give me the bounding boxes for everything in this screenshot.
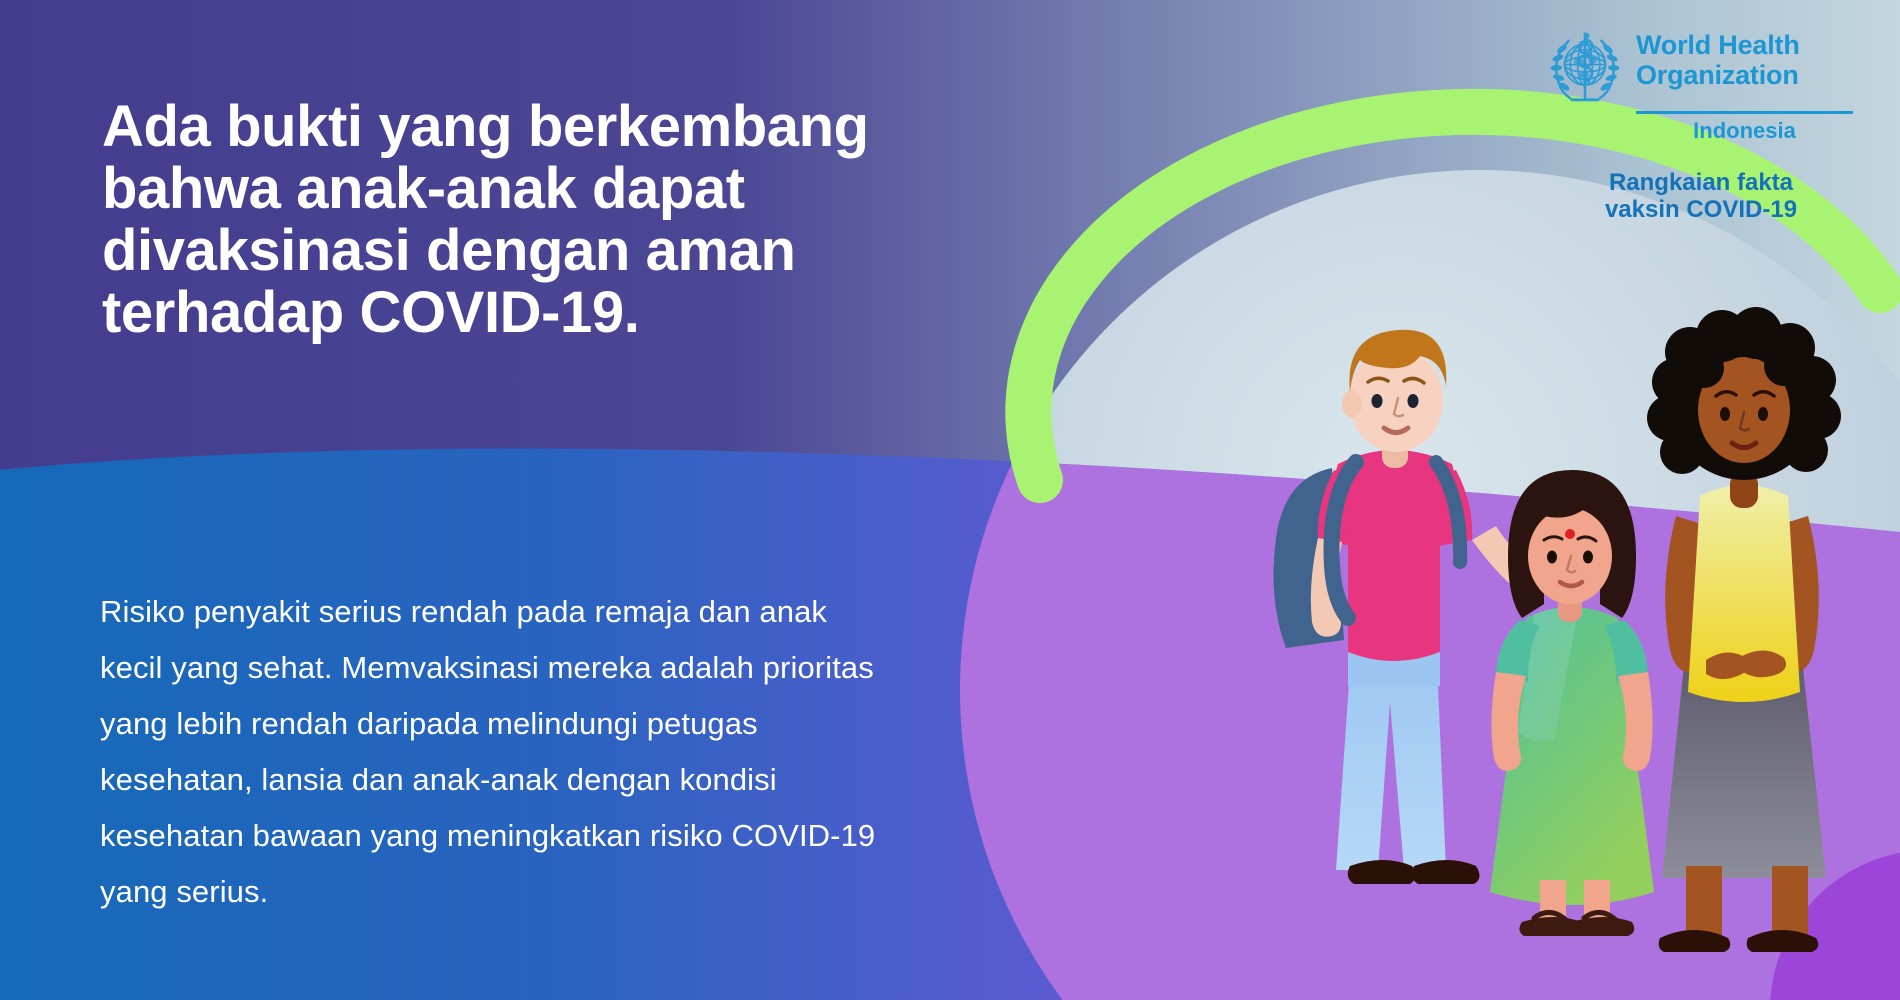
body-line-4: kesehatan, lansia dan anak-anak dengan k… [100, 752, 1180, 808]
body-line-2: kecil yang sehat. Memvaksinasi mereka ad… [100, 640, 1180, 696]
who-tagline-line-2: vaksin COVID-19 [1544, 196, 1858, 223]
headline-line-1: Ada bukti yang berkembang [102, 96, 1062, 158]
figure-girl-in-sari [1490, 470, 1654, 936]
poster-canvas: Ada bukti yang berkembang bahwa anak-ana… [0, 0, 1900, 1000]
who-country-label: Indonesia [1636, 119, 1853, 143]
body-line-1: Risiko penyakit serius rendah pada remaj… [100, 584, 1180, 640]
who-divider-rule [1636, 111, 1853, 114]
who-tagline: Rangkaian fakta vaksin COVID-19 [1544, 169, 1858, 223]
who-wordmark-line-2: Organization [1636, 60, 1800, 90]
headline-line-4: terhadap COVID-19. [102, 282, 1062, 344]
headline: Ada bukti yang berkembang bahwa anak-ana… [102, 96, 1062, 344]
who-logo-row: World Health Organization [1544, 26, 1858, 108]
body-line-6: yang serius. [100, 864, 1180, 920]
body-paragraph: Risiko penyakit serius rendah pada remaj… [100, 584, 1180, 920]
who-logo-block: World Health Organization Indonesia Rang… [1544, 26, 1858, 223]
body-line-3: yang lebih rendah daripada melindungi pe… [100, 696, 1180, 752]
who-tagline-line-1: Rangkaian fakta [1544, 169, 1858, 196]
headline-line-2: bahwa anak-anak dapat [102, 158, 1062, 220]
body-line-5: kesehatan bawaan yang meningkatkan risik… [100, 808, 1180, 864]
who-wordmark-line-1: World Health [1636, 30, 1800, 60]
who-wordmark: World Health Organization [1636, 26, 1800, 90]
headline-line-3: divaksinasi dengan aman [102, 220, 1062, 282]
who-emblem-icon [1544, 26, 1626, 108]
figure-woman-with-afro [1647, 307, 1841, 952]
